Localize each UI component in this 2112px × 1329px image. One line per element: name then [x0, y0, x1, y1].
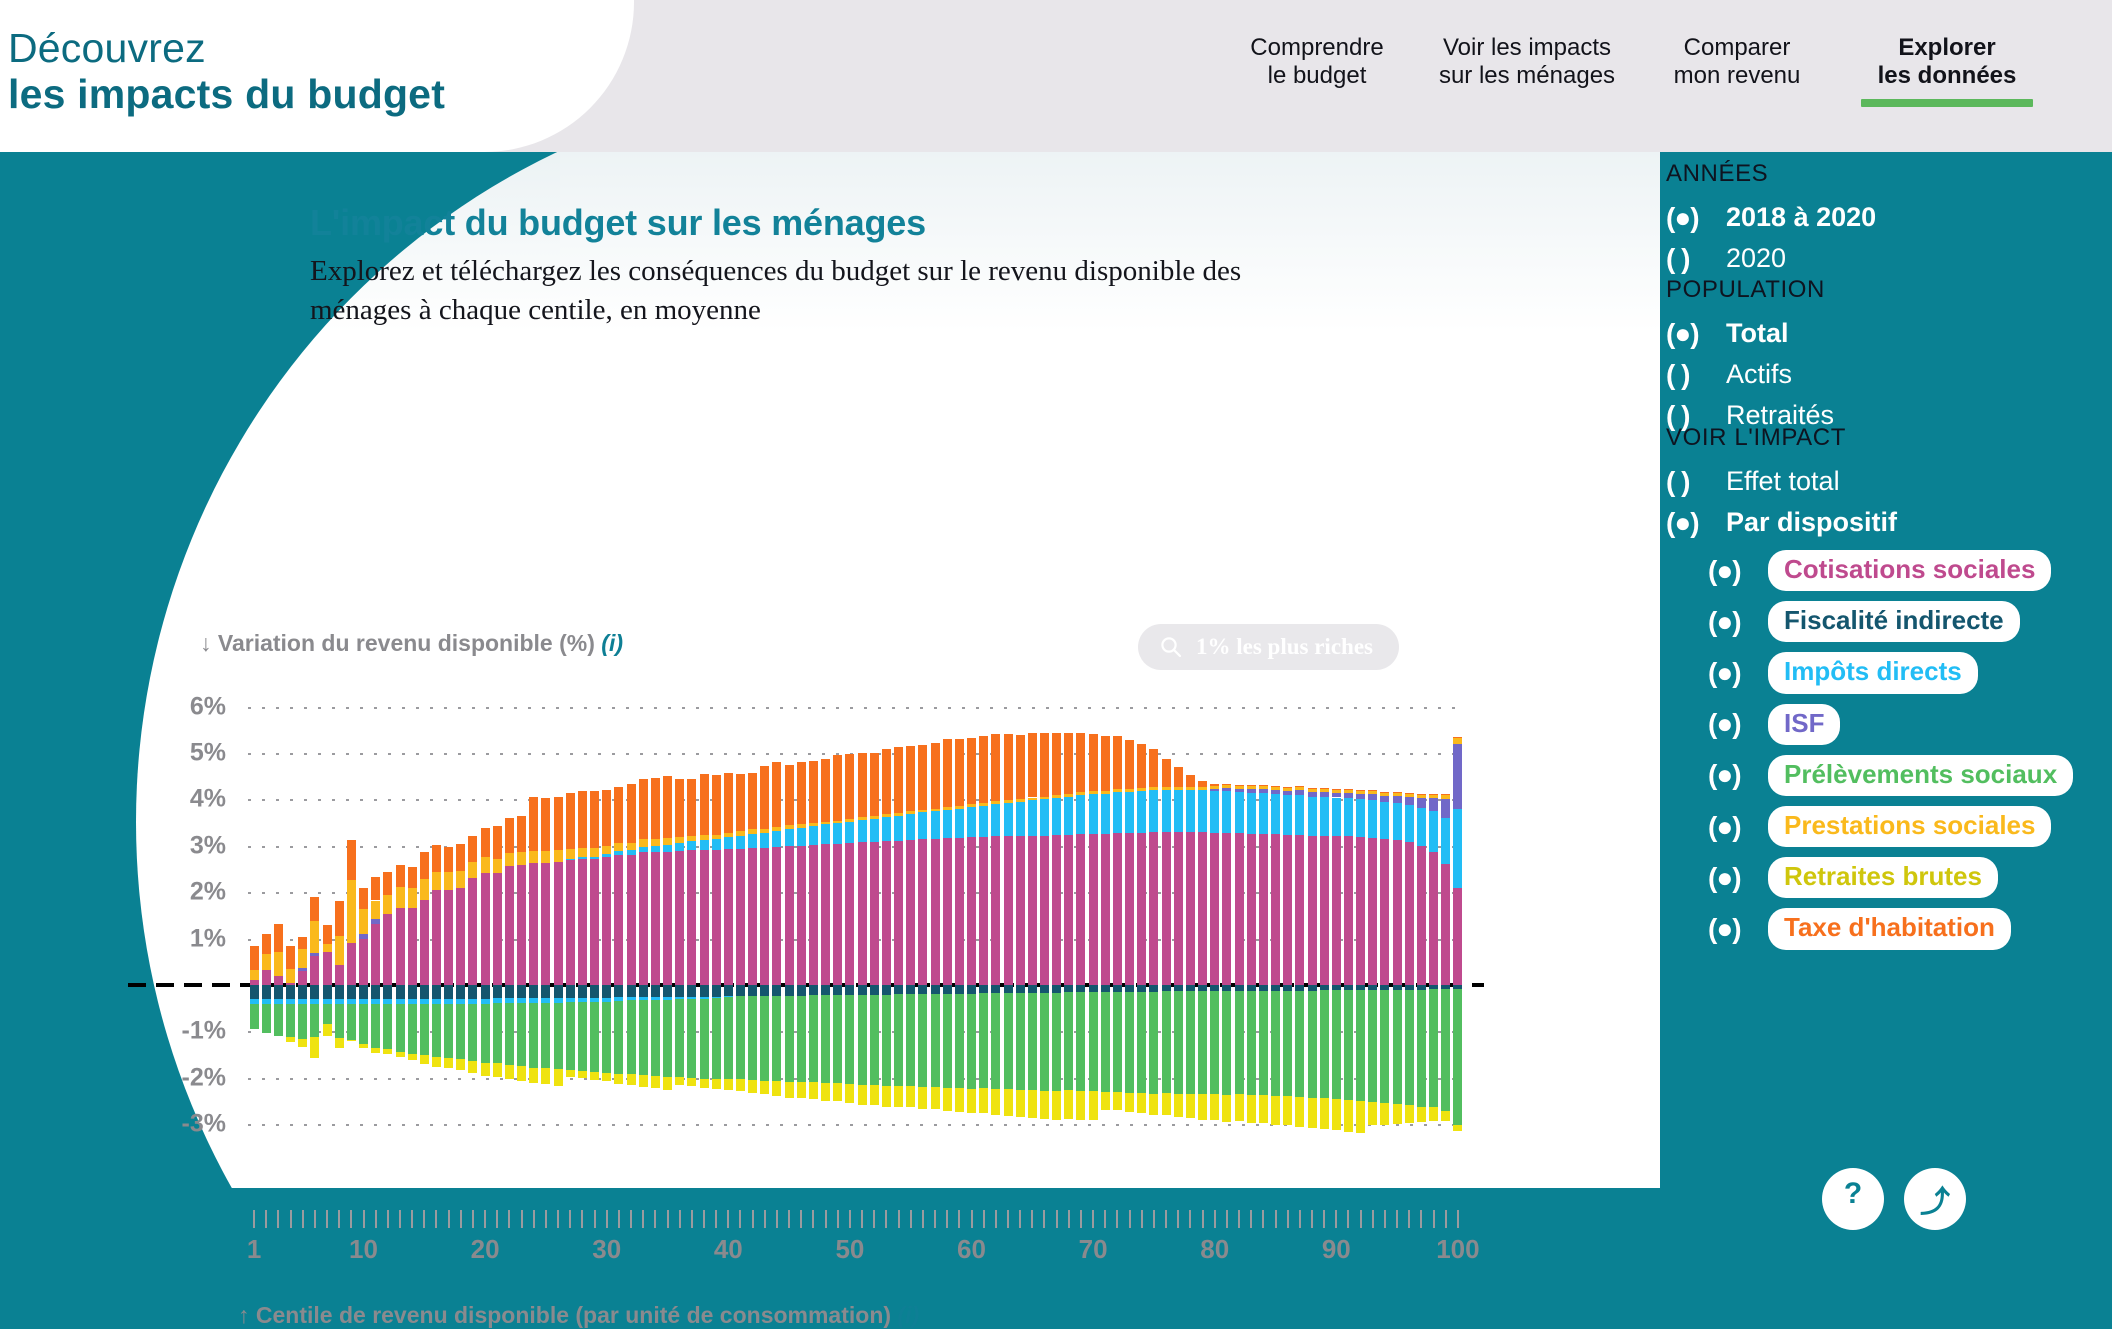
x-axis-tick	[776, 1210, 778, 1228]
bar-segment	[1393, 840, 1402, 985]
bar-percentile-13[interactable]	[396, 688, 405, 1152]
bar-segment	[1356, 837, 1365, 985]
bar-segment	[1283, 835, 1292, 985]
bar-segment	[1295, 786, 1304, 787]
bar-segment	[1198, 832, 1207, 985]
bar-percentile-95[interactable]	[1393, 688, 1402, 1152]
bar-percentile-54[interactable]	[894, 688, 903, 1152]
bar-segment	[1137, 788, 1146, 791]
bar-segment	[1016, 802, 1025, 836]
bar-segment	[1332, 798, 1341, 837]
bar-segment	[627, 985, 636, 997]
bar-segment	[408, 1004, 417, 1053]
bar-percentile-68[interactable]	[1064, 688, 1073, 1152]
dispositif-option-2[interactable]: (●)Fiscalité indirecte	[1666, 601, 2073, 642]
bar-percentile-64[interactable]	[1016, 688, 1025, 1152]
x-axis-tick	[1262, 1210, 1264, 1228]
bar-percentile-99[interactable]	[1441, 688, 1450, 1152]
option-population-actifs[interactable]: ( ) Actifs	[1666, 359, 1834, 390]
bar-segment	[724, 985, 733, 996]
bar-percentile-6[interactable]	[310, 688, 319, 1152]
option-par-dispositif[interactable]: (●) Par dispositif	[1666, 507, 2073, 538]
bar-segment	[967, 837, 976, 985]
bar-percentile-25[interactable]	[541, 688, 550, 1152]
option-population-total[interactable]: (●) Total	[1666, 318, 1834, 349]
bar-segment	[1089, 985, 1098, 992]
x-axis-tick	[1019, 1210, 1021, 1228]
bar-segment	[274, 924, 283, 953]
bar-percentile-56[interactable]	[918, 688, 927, 1152]
bar-segment	[955, 806, 964, 809]
bar-percentile-89[interactable]	[1320, 688, 1329, 1152]
bar-percentile-66[interactable]	[1040, 688, 1049, 1152]
bar-percentile-58[interactable]	[943, 688, 952, 1152]
bar-percentile-98[interactable]	[1429, 688, 1438, 1152]
bar-segment	[1016, 799, 1025, 802]
bar-percentile-23[interactable]	[517, 688, 526, 1152]
bar-percentile-28[interactable]	[578, 688, 587, 1152]
bar-percentile-11[interactable]	[371, 688, 380, 1152]
bar-segment	[493, 859, 502, 873]
bar-segment	[760, 829, 769, 833]
bar-segment	[845, 1084, 854, 1103]
nav-item-voir-les-impacts[interactable]: Voir les impacts sur les ménages	[1422, 34, 1632, 107]
bar-percentile-35[interactable]	[663, 688, 672, 1152]
x-axis-tick	[1360, 1210, 1362, 1228]
bar-segment	[1368, 790, 1377, 791]
bar-percentile-69[interactable]	[1076, 688, 1085, 1152]
bar-segment	[918, 745, 927, 810]
bar-percentile-77[interactable]	[1174, 688, 1183, 1152]
bar-percentile-24[interactable]	[529, 688, 538, 1152]
bar-segment	[955, 985, 964, 994]
radio-unselected-icon: ( )	[1666, 361, 1712, 389]
bar-percentile-70[interactable]	[1089, 688, 1098, 1152]
bar-segment	[1040, 799, 1049, 835]
bar-percentile-92[interactable]	[1356, 688, 1365, 1152]
x-axis-tick-label: 1	[247, 1234, 261, 1265]
bar-percentile-39[interactable]	[712, 688, 721, 1152]
bar-segment	[1149, 1094, 1158, 1115]
nav-line-1: Explorer	[1842, 34, 2052, 62]
bar-percentile-52[interactable]	[870, 688, 879, 1152]
radio-selected-icon: (●)	[1666, 509, 1712, 537]
bar-segment	[1186, 1094, 1195, 1118]
bar-segment	[347, 880, 356, 943]
bar-percentile-45[interactable]	[785, 688, 794, 1152]
bar-percentile-59[interactable]	[955, 688, 964, 1152]
bar-segment	[882, 814, 891, 817]
bar-segment	[821, 1083, 830, 1101]
bar-segment	[1089, 734, 1098, 791]
bar-percentile-87[interactable]	[1295, 688, 1304, 1152]
bar-percentile-17[interactable]	[444, 688, 453, 1152]
bar-segment	[529, 851, 538, 863]
bar-segment	[1393, 1104, 1402, 1124]
bar-percentile-71[interactable]	[1101, 688, 1110, 1152]
x-axis-tick	[934, 1210, 936, 1228]
bar-segment	[809, 823, 818, 827]
bar-segment	[870, 842, 879, 985]
bar-percentile-21[interactable]	[493, 688, 502, 1152]
x-axis-tick	[326, 1210, 328, 1228]
bar-percentile-7[interactable]	[323, 688, 332, 1152]
bar-segment	[493, 1003, 502, 1063]
bar-segment	[1332, 789, 1341, 790]
bar-percentile-63[interactable]	[1004, 688, 1013, 1152]
bar-percentile-88[interactable]	[1308, 688, 1317, 1152]
bar-segment	[1125, 992, 1134, 1092]
bar-percentile-67[interactable]	[1052, 688, 1061, 1152]
bar-segment	[772, 996, 781, 1081]
bar-segment	[347, 840, 356, 880]
bar-segment	[1453, 744, 1462, 809]
bar-percentile-42[interactable]	[748, 688, 757, 1152]
bar-segment	[1149, 749, 1158, 787]
bar-segment	[663, 838, 672, 844]
x-axis-tick	[703, 1210, 705, 1228]
bar-segment	[590, 848, 599, 857]
top-1-percent-button[interactable]: 1% les plus riches	[1138, 624, 1399, 670]
bar-segment	[1028, 800, 1037, 835]
bar-segment	[517, 865, 526, 985]
bar-percentile-29[interactable]	[590, 688, 599, 1152]
bar-segment	[906, 814, 915, 840]
bar-segment	[566, 1002, 575, 1071]
bar-percentile-50[interactable]	[845, 688, 854, 1152]
bar-segment	[1356, 990, 1365, 1101]
bar-percentile-90[interactable]	[1332, 688, 1341, 1152]
x-axis-tick	[1153, 1210, 1155, 1228]
bar-segment	[298, 1004, 307, 1038]
bar-segment	[627, 850, 636, 855]
dispositif-option-8[interactable]: (●)Taxe d'habitation	[1666, 908, 2073, 949]
bar-segment	[1380, 796, 1389, 802]
bar-segment	[1076, 834, 1085, 985]
bar-percentile-10[interactable]	[359, 688, 368, 1152]
bar-segment	[408, 908, 417, 985]
bar-percentile-31[interactable]	[614, 688, 623, 1152]
bar-percentile-4[interactable]	[286, 688, 295, 1152]
bar-segment	[1295, 790, 1304, 795]
bar-segment	[566, 793, 575, 849]
bar-percentile-62[interactable]	[991, 688, 1000, 1152]
y-axis-info-icon[interactable]: (i)	[601, 630, 623, 656]
bar-segment	[943, 807, 952, 810]
bar-segment	[602, 1073, 611, 1081]
bar-segment	[1259, 1095, 1268, 1123]
bar-segment	[809, 1082, 818, 1099]
bar-segment	[578, 857, 587, 859]
bar-segment	[1271, 834, 1280, 985]
bar-segment	[310, 1004, 319, 1036]
bar-segment	[1222, 791, 1231, 833]
bar-segment	[554, 797, 563, 851]
bar-segment	[931, 985, 940, 994]
bar-segment	[627, 784, 636, 843]
bar-segment	[1174, 1094, 1183, 1117]
bar-segment	[1174, 790, 1183, 832]
bar-segment	[1368, 791, 1377, 794]
bar-segment	[748, 985, 757, 996]
dispositif-option-6[interactable]: (●)Prestations sociales	[1666, 806, 2073, 847]
x-axis-tick-label: 70	[1079, 1234, 1108, 1265]
bar-segment	[1247, 834, 1256, 985]
bar-segment	[541, 798, 550, 852]
nav-item-explorer-les-donnees[interactable]: Explorer les données	[1842, 34, 2052, 107]
bar-percentile-15[interactable]	[420, 688, 429, 1152]
bar-segment	[517, 852, 526, 865]
dispositif-option-3[interactable]: (●)Impôts directs	[1666, 652, 2073, 693]
radio-selected-icon: (●)	[1708, 557, 1754, 585]
bar-segment	[1393, 803, 1402, 840]
bar-percentile-48[interactable]	[821, 688, 830, 1152]
bar-percentile-18[interactable]	[456, 688, 465, 1152]
x-axis-tick	[812, 1210, 814, 1228]
bar-segment	[481, 1004, 490, 1063]
bar-segment	[918, 1087, 927, 1109]
bar-segment	[1417, 1107, 1426, 1123]
bar-segment	[371, 924, 380, 985]
bar-segment	[1380, 792, 1389, 793]
bar-segment	[493, 873, 502, 985]
bar-segment	[1101, 834, 1110, 985]
x-axis-tick	[1177, 1210, 1179, 1228]
bar-segment	[1016, 985, 1025, 993]
bar-percentile-53[interactable]	[882, 688, 891, 1152]
bar-percentile-38[interactable]	[700, 688, 709, 1152]
bar-segment	[1052, 835, 1061, 985]
bar-segment	[760, 848, 769, 985]
bar-segment	[420, 1055, 429, 1063]
bar-segment	[1441, 864, 1450, 985]
bar-segment	[529, 863, 538, 985]
bar-percentile-55[interactable]	[906, 688, 915, 1152]
bar-segment	[1028, 836, 1037, 985]
bar-segment	[1186, 832, 1195, 985]
bar-segment	[578, 791, 587, 848]
bar-percentile-20[interactable]	[481, 688, 490, 1152]
bar-percentile-36[interactable]	[675, 688, 684, 1152]
nav-item-comprendre-le-budget[interactable]: Comprendre le budget	[1212, 34, 1422, 107]
bar-percentile-83[interactable]	[1247, 688, 1256, 1152]
bar-percentile-81[interactable]	[1222, 688, 1231, 1152]
bar-segment	[955, 739, 964, 806]
bar-segment	[371, 877, 380, 900]
bar-segment	[724, 833, 733, 838]
bar-segment	[396, 887, 405, 908]
bar-percentile-32[interactable]	[627, 688, 636, 1152]
bar-segment	[1125, 740, 1134, 789]
dispositif-option-1[interactable]: (●)Cotisations sociales	[1666, 550, 2073, 591]
bar-segment	[1308, 991, 1317, 1099]
x-axis-tick	[995, 1210, 997, 1228]
bar-percentile-37[interactable]	[687, 688, 696, 1152]
bar-segment	[1198, 781, 1207, 787]
bar-segment	[821, 985, 830, 995]
bar-percentile-16[interactable]	[432, 688, 441, 1152]
bar-segment	[687, 985, 696, 997]
bar-percentile-46[interactable]	[797, 688, 806, 1152]
dispositif-chip: Impôts directs	[1768, 652, 1978, 693]
bar-segment	[870, 1085, 879, 1104]
x-axis-tick	[1335, 1210, 1337, 1228]
bar-segment	[663, 776, 672, 838]
bar-percentile-51[interactable]	[858, 688, 867, 1152]
bar-percentile-9[interactable]	[347, 688, 356, 1152]
bar-percentile-72[interactable]	[1113, 688, 1122, 1152]
bar-segment	[383, 1049, 392, 1054]
bar-segment	[590, 1072, 599, 1079]
bar-percentile-96[interactable]	[1405, 688, 1414, 1152]
bar-segment	[870, 985, 879, 995]
bar-percentile-93[interactable]	[1368, 688, 1377, 1152]
bar-segment	[712, 835, 721, 840]
bar-segment	[408, 867, 417, 887]
bar-percentile-80[interactable]	[1210, 688, 1219, 1152]
nav-item-comparer-mon-revenu[interactable]: Comparer mon revenu	[1632, 34, 1842, 107]
bar-segment	[1149, 787, 1158, 790]
bar-segment	[675, 999, 684, 1077]
bar-percentile-97[interactable]	[1417, 688, 1426, 1152]
x-axis-tick	[1165, 1210, 1167, 1228]
bar-segment	[1040, 733, 1049, 796]
bar-percentile-79[interactable]	[1198, 688, 1207, 1152]
bar-percentile-2[interactable]	[262, 688, 271, 1152]
bar-percentile-44[interactable]	[772, 688, 781, 1152]
bar-segment	[833, 821, 842, 824]
radio-selected-icon: (●)	[1708, 608, 1754, 636]
bar-percentile-40[interactable]	[724, 688, 733, 1152]
bar-segment	[444, 872, 453, 891]
bar-segment	[408, 1054, 417, 1060]
bar-percentile-43[interactable]	[760, 688, 769, 1152]
bar-segment	[967, 738, 976, 804]
bar-segment	[785, 996, 794, 1082]
option-effet-total[interactable]: ( ) Effet total	[1666, 466, 2073, 497]
bar-percentile-47[interactable]	[809, 688, 818, 1152]
bar-percentile-85[interactable]	[1271, 688, 1280, 1152]
bar-segment	[845, 819, 854, 822]
share-fab[interactable]: ⤴	[1904, 1168, 1966, 1230]
bar-percentile-5[interactable]	[298, 688, 307, 1152]
x-axis-tick	[885, 1210, 887, 1228]
bar-segment	[493, 1063, 502, 1077]
bar-segment	[1235, 792, 1244, 833]
bar-segment	[323, 1024, 332, 1036]
bar-segment	[967, 807, 976, 838]
bar-percentile-78[interactable]	[1186, 688, 1195, 1152]
bar-segment	[1417, 794, 1426, 795]
bar-percentile-61[interactable]	[979, 688, 988, 1152]
bar-segment	[468, 862, 477, 878]
bar-segment	[1441, 989, 1450, 1111]
bar-segment	[1174, 832, 1183, 985]
x-axis-tick	[800, 1210, 802, 1228]
x-axis-info-icon[interactable]: (i)	[897, 1302, 919, 1328]
bar-percentile-100[interactable]	[1453, 688, 1462, 1152]
section-population: POPULATION (●) Total ( ) Actifs ( ) Retr…	[1666, 276, 1834, 431]
bar-segment	[858, 820, 867, 842]
bar-segment	[943, 810, 952, 839]
bar-segment	[250, 970, 259, 980]
bar-segment	[1004, 800, 1013, 803]
dispositif-option-5[interactable]: (●)Prélèvements sociaux	[1666, 755, 2073, 796]
bar-segment	[1271, 787, 1280, 790]
help-fab[interactable]: ?	[1822, 1168, 1884, 1230]
bar-percentile-19[interactable]	[468, 688, 477, 1152]
bar-segment	[432, 985, 441, 999]
bar-segment	[955, 1088, 964, 1112]
bar-segment	[432, 872, 441, 891]
bar-segment	[310, 985, 319, 999]
bar-segment	[359, 909, 368, 934]
bar-segment	[627, 843, 636, 850]
bar-percentile-49[interactable]	[833, 688, 842, 1152]
bar-segment	[700, 850, 709, 985]
bar-percentile-60[interactable]	[967, 688, 976, 1152]
bar-percentile-41[interactable]	[736, 688, 745, 1152]
section-annees: ANNÉES (●) 2018 à 2020 ( ) 2020	[1666, 160, 1876, 274]
bar-percentile-12[interactable]	[383, 688, 392, 1152]
x-axis-tick	[1420, 1210, 1422, 1228]
bar-segment	[578, 1002, 587, 1072]
bar-percentile-3[interactable]	[274, 688, 283, 1152]
bar-segment	[310, 953, 319, 956]
bar-segment	[1064, 992, 1073, 1089]
bar-percentile-91[interactable]	[1344, 688, 1353, 1152]
dispositif-option-7[interactable]: (●)Retraites brutes	[1666, 857, 2073, 898]
bar-segment	[918, 839, 927, 985]
bar-segment	[1052, 795, 1061, 798]
bar-segment	[566, 1070, 575, 1076]
bar-percentile-65[interactable]	[1028, 688, 1037, 1152]
bar-segment	[736, 774, 745, 831]
bar-segment	[286, 985, 295, 999]
x-axis-tick	[435, 1210, 437, 1228]
bar-percentile-73[interactable]	[1125, 688, 1134, 1152]
bar-segment	[675, 837, 684, 843]
bar-series-container	[248, 688, 1464, 1152]
bar-percentile-74[interactable]	[1137, 688, 1146, 1152]
bar-percentile-57[interactable]	[931, 688, 940, 1152]
section-voir-limpact: VOIR L'IMPACT ( ) Effet total (●) Par di…	[1666, 424, 2073, 950]
option-annees-2020[interactable]: ( ) 2020	[1666, 243, 1876, 274]
bar-percentile-33[interactable]	[639, 688, 648, 1152]
help-fab-glyph: ?	[1822, 1177, 1884, 1211]
option-annees-2018-2020[interactable]: (●) 2018 à 2020	[1666, 202, 1876, 233]
bar-percentile-75[interactable]	[1149, 688, 1158, 1152]
dispositif-option-4[interactable]: (●)ISF	[1666, 704, 2073, 745]
bar-segment	[1113, 985, 1122, 992]
bar-segment	[1064, 797, 1073, 835]
bar-segment	[505, 818, 514, 853]
bar-percentile-86[interactable]	[1283, 688, 1292, 1152]
bar-percentile-82[interactable]	[1235, 688, 1244, 1152]
bar-percentile-26[interactable]	[554, 688, 563, 1152]
bar-percentile-22[interactable]	[505, 688, 514, 1152]
bar-percentile-84[interactable]	[1259, 688, 1268, 1152]
bar-percentile-27[interactable]	[566, 688, 575, 1152]
bar-percentile-1[interactable]	[250, 688, 259, 1152]
bar-percentile-76[interactable]	[1162, 688, 1171, 1152]
bar-percentile-14[interactable]	[408, 688, 417, 1152]
bar-percentile-94[interactable]	[1380, 688, 1389, 1152]
bar-percentile-8[interactable]	[335, 688, 344, 1152]
brand-plate[interactable]: Découvrez les impacts du budget	[0, 0, 634, 152]
bar-percentile-34[interactable]	[651, 688, 660, 1152]
bar-percentile-30[interactable]	[602, 688, 611, 1152]
